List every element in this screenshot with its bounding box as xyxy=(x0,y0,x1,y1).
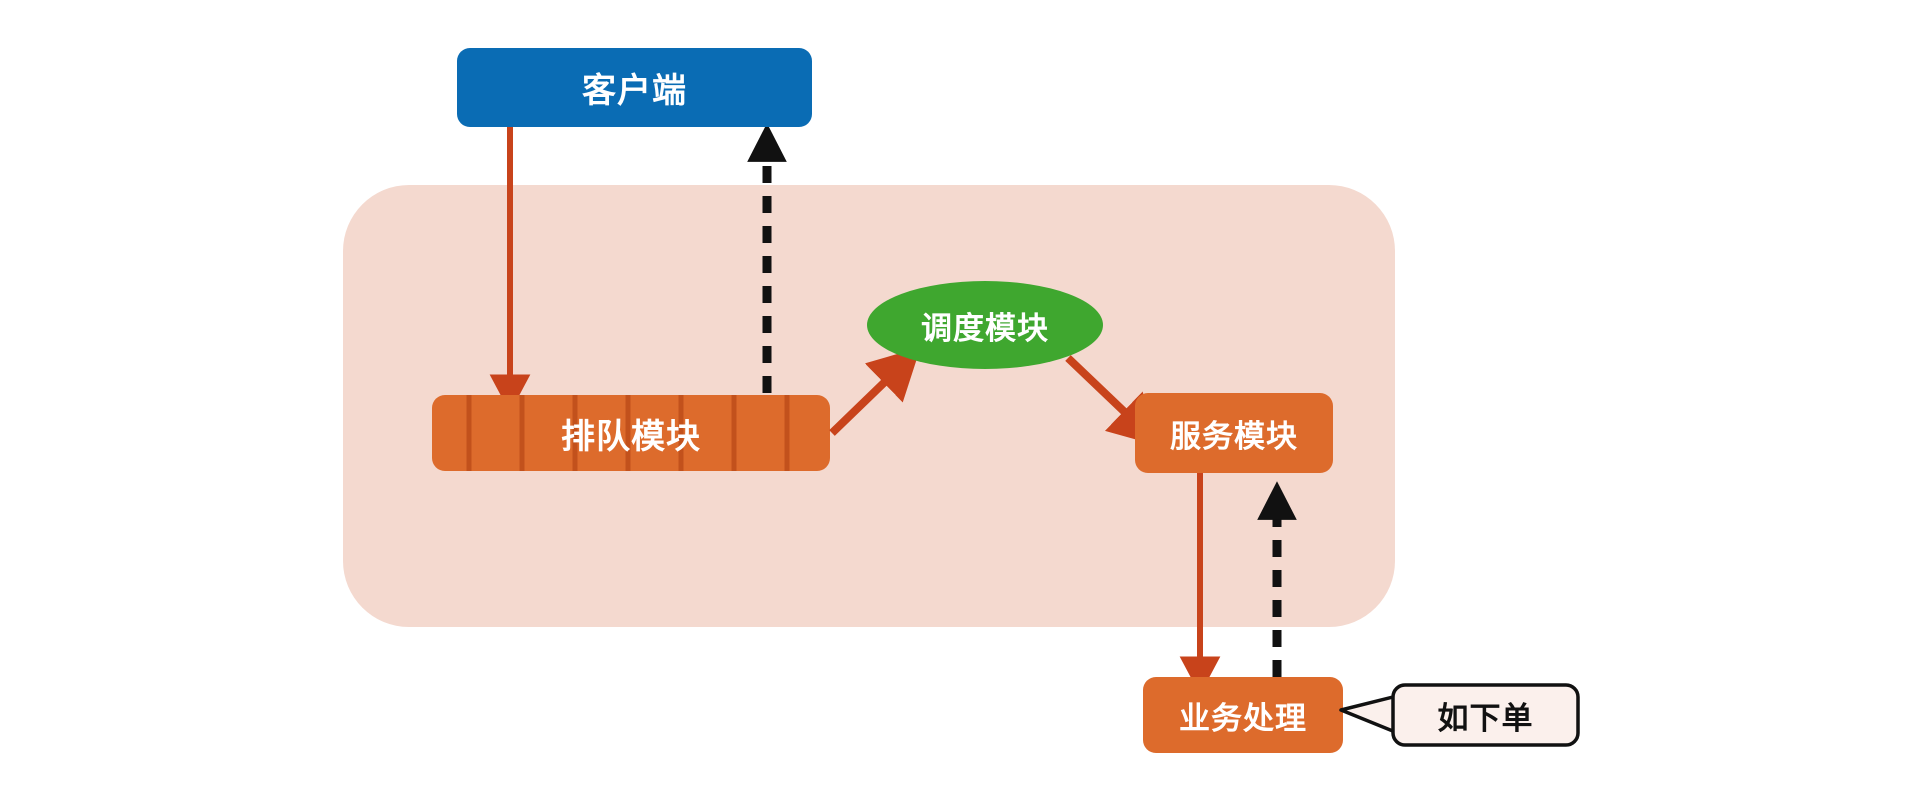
node-client[interactable] xyxy=(457,48,812,127)
node-queue-module[interactable] xyxy=(432,395,830,471)
diagram-svg xyxy=(0,0,1920,807)
node-service-module[interactable] xyxy=(1135,393,1333,473)
node-scheduler-module[interactable] xyxy=(867,281,1103,369)
diagram-canvas: 客户端 排队模块 调度模块 服务模块 业务处理 如下单 xyxy=(0,0,1920,807)
callout-order[interactable] xyxy=(1341,685,1578,745)
node-business-processing[interactable] xyxy=(1143,677,1343,753)
